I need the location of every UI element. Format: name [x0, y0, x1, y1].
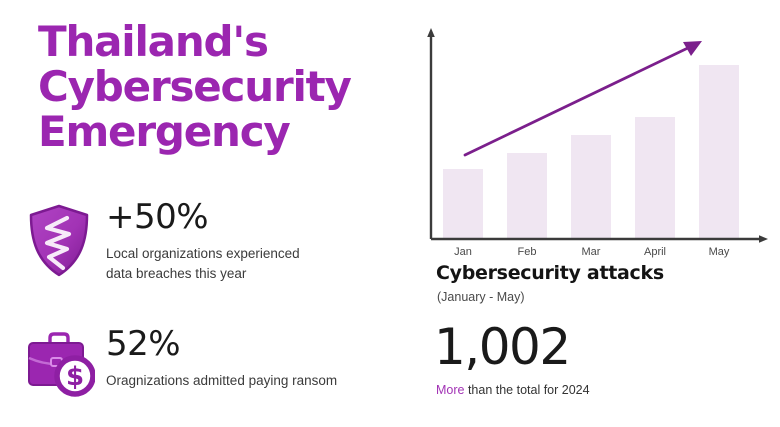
x-tick-label-feb: Feb [518, 246, 537, 258]
left-column: Thailand's Cybersecurity Emergency [0, 0, 410, 427]
bar-may [699, 65, 739, 239]
stat-body-breaches: +50% Local organizations experienced dat… [98, 200, 300, 283]
x-tick-label-jan: Jan [454, 246, 472, 258]
stat-description-breaches-line-2: data breaches this year [106, 266, 246, 281]
broken-shield-icon [20, 200, 98, 278]
stat-body-ransom: 52% Oragnizations admitted paying ransom [98, 327, 337, 391]
total-attacks-note: More than the total for 2024 [436, 383, 590, 397]
svg-text:$: $ [66, 362, 84, 392]
bar-group [443, 65, 739, 239]
infographic-root: Thailand's Cybersecurity Emergency [0, 0, 780, 427]
stat-item-breaches: +50% Local organizations experienced dat… [20, 200, 300, 283]
bar-chart: Jan Feb Mar April May [410, 18, 780, 258]
total-attacks-note-accent: More [436, 383, 464, 397]
bar-feb [507, 153, 547, 239]
x-tick-labels: Jan Feb Mar April May [454, 246, 730, 258]
bar-april [635, 117, 675, 239]
x-tick-label-may: May [709, 246, 730, 258]
stat-item-ransom: $ 52% Oragnizations admitted paying rans… [20, 327, 337, 397]
page-title-line-2: Cybersecurity [38, 65, 398, 110]
x-tick-label-april: April [644, 246, 666, 258]
chart-subtitle: (January - May) [437, 290, 525, 304]
stat-description-breaches-line-1: Local organizations experienced [106, 246, 300, 261]
page-title-line-3: Emergency [38, 110, 398, 155]
chart-title: Cybersecurity attacks [436, 262, 664, 284]
stat-description-ransom: Oragnizations admitted paying ransom [106, 371, 337, 391]
bar-mar [571, 135, 611, 239]
total-attacks-value: 1,002 [434, 322, 570, 372]
stat-value-breaches: +50% [106, 200, 300, 234]
total-attacks-note-rest: than the total for 2024 [464, 383, 589, 397]
x-tick-label-mar: Mar [582, 246, 601, 258]
page-title-line-1: Thailand's [38, 20, 398, 65]
stat-description-breaches: Local organizations experienced data bre… [106, 244, 300, 283]
page-title: Thailand's Cybersecurity Emergency [38, 20, 398, 155]
right-column: Jan Feb Mar April May Cybersecurity atta… [410, 0, 780, 427]
bar-jan [443, 169, 483, 239]
briefcase-dollar-icon: $ [20, 327, 98, 397]
stat-value-ransom: 52% [106, 327, 337, 361]
y-axis [427, 28, 435, 239]
bar-chart-svg: Jan Feb Mar April May [410, 18, 780, 258]
